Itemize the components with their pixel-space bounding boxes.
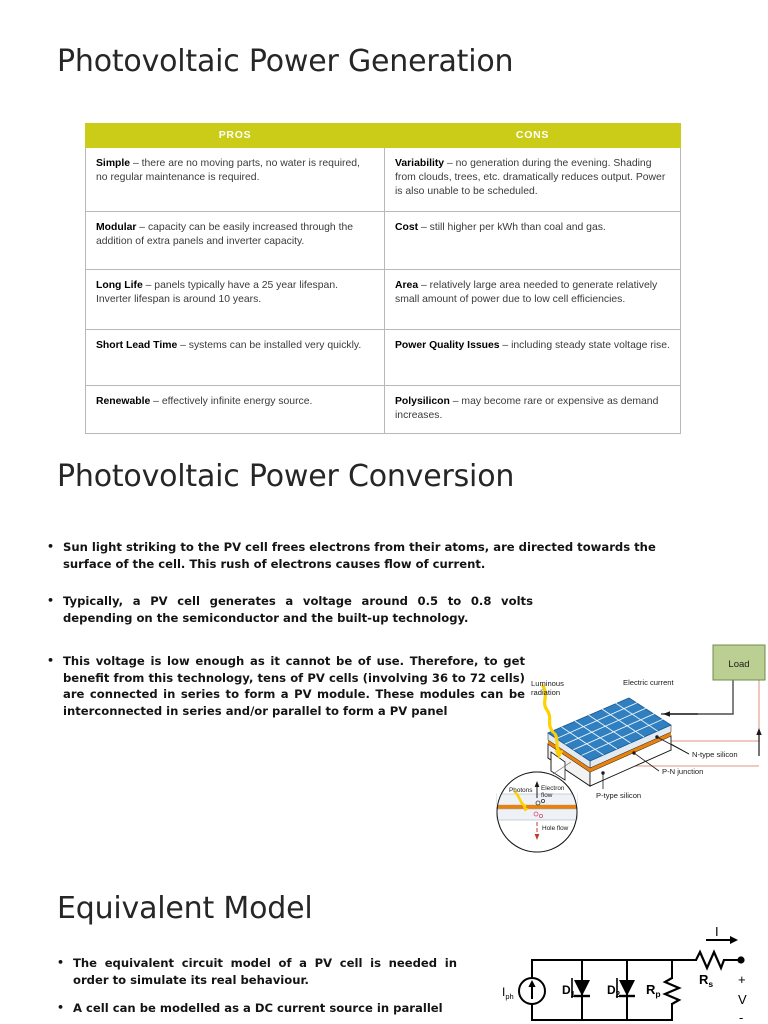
con-term: Power Quality Issues: [395, 340, 500, 351]
con-term: Cost: [395, 222, 418, 233]
table-row: Short Lead Time – systems can be install…: [86, 330, 681, 386]
list-item: • Sun light striking to the PV cell free…: [47, 539, 704, 572]
column-header-cons: CONS: [385, 124, 681, 148]
table-cell-con: Area – relatively large area needed to g…: [385, 270, 681, 330]
label-rp: Rp: [646, 982, 661, 999]
label-current-i: I: [715, 924, 719, 939]
label-electric-current: Electric current: [623, 678, 675, 687]
pro-term: Renewable: [96, 396, 150, 407]
table-row: Simple – there are no moving parts, no w…: [86, 148, 681, 212]
list-item-text: Typically, a PV cell generates a voltage…: [63, 593, 533, 626]
label-voltage-v: V: [738, 992, 747, 1007]
pros-cons-table: PROS CONS Simple – there are no moving p…: [85, 123, 681, 434]
con-text: – relatively large area needed to genera…: [395, 280, 657, 305]
label-rs: Rs: [699, 972, 713, 989]
table-cell-con: Cost – still higher per kWh than coal an…: [385, 212, 681, 270]
pro-text: – there are no moving parts, no water is…: [96, 158, 360, 183]
list-item: • This voltage is low enough as it canno…: [47, 653, 525, 720]
label-hole-flow: Hole flow: [542, 825, 569, 832]
list-item-text: Sun light striking to the PV cell frees …: [63, 539, 704, 572]
list-item-text: The equivalent circuit model of a PV cel…: [73, 955, 457, 988]
label-minus: -: [739, 1010, 743, 1024]
bullet-marker-icon: •: [57, 1000, 64, 1016]
label-luminous-radiation: Luminous: [531, 679, 564, 688]
pro-term: Simple: [96, 158, 130, 169]
table-cell-pro: Renewable – effectively infinite energy …: [86, 386, 385, 434]
pro-text: – systems can be installed very quickly.: [177, 340, 361, 351]
pro-term: Modular: [96, 222, 136, 233]
table-header-row: PROS CONS: [86, 124, 681, 148]
label-pn-junction: P-N junction: [662, 767, 703, 776]
bullet-marker-icon: •: [47, 539, 54, 555]
table-cell-pro: Short Lead Time – systems can be install…: [86, 330, 385, 386]
list-item: • Typically, a PV cell generates a volta…: [47, 593, 533, 626]
column-header-pros: PROS: [86, 124, 385, 148]
label-n-type-silicon: N-type silicon: [692, 750, 738, 759]
label-plus: +: [738, 972, 746, 987]
con-term: Variability: [395, 158, 444, 169]
label-diode-2: D2: [607, 983, 621, 999]
page-title-photovoltaic-power-generation: Photovoltaic Power Generation: [57, 44, 513, 79]
label-diode-1: D1: [562, 983, 576, 999]
table-cell-con: Power Quality Issues – including steady …: [385, 330, 681, 386]
table-cell-pro: Simple – there are no moving parts, no w…: [86, 148, 385, 212]
table-cell-pro: Modular – capacity can be easily increas…: [86, 212, 385, 270]
table-row: Renewable – effectively infinite energy …: [86, 386, 681, 434]
page-title-equivalent-model: Equivalent Model: [57, 891, 312, 926]
pv-cell-diagram: Load N-type silicon P-N junction P-type …: [493, 640, 768, 855]
table-row: Long Life – panels typically have a 25 y…: [86, 270, 681, 330]
equivalent-circuit-diagram: Iph D1 D2 Rp Rs I + V -: [500, 918, 768, 1024]
label-photons: Photons: [509, 787, 532, 794]
con-term: Area: [395, 280, 418, 291]
bullet-marker-icon: •: [57, 955, 64, 971]
bullet-marker-icon: •: [47, 653, 54, 669]
label-radiation: radiation: [531, 688, 560, 697]
label-p-type-silicon: P-type silicon: [596, 791, 641, 800]
page-title-photovoltaic-power-conversion: Photovoltaic Power Conversion: [57, 459, 514, 494]
table-row: Modular – capacity can be easily increas…: [86, 212, 681, 270]
list-item: • The equivalent circuit model of a PV c…: [57, 955, 457, 988]
con-text: – including steady state voltage rise.: [500, 340, 670, 351]
label-flow: flow: [541, 792, 553, 799]
table-cell-pro: Long Life – panels typically have a 25 y…: [86, 270, 385, 330]
table-cell-con: Polysilicon – may become rare or expensi…: [385, 386, 681, 434]
list-item-text: A cell can be modelled as a DC current s…: [73, 1000, 457, 1017]
table-cell-con: Variability – no generation during the e…: [385, 148, 681, 212]
bullet-marker-icon: •: [47, 593, 54, 609]
label-iph: Iph: [502, 985, 514, 1001]
con-text: – still higher per kWh than coal and gas…: [418, 222, 606, 233]
label-electron-flow: Electron: [541, 785, 565, 792]
list-item-text: This voltage is low enough as it cannot …: [63, 653, 525, 720]
load-label: Load: [728, 659, 749, 670]
pro-term: Short Lead Time: [96, 340, 177, 351]
pro-text: – effectively infinite energy source.: [150, 396, 312, 407]
list-item: • A cell can be modelled as a DC current…: [57, 1000, 457, 1017]
pro-term: Long Life: [96, 280, 143, 291]
con-term: Polysilicon: [395, 396, 450, 407]
